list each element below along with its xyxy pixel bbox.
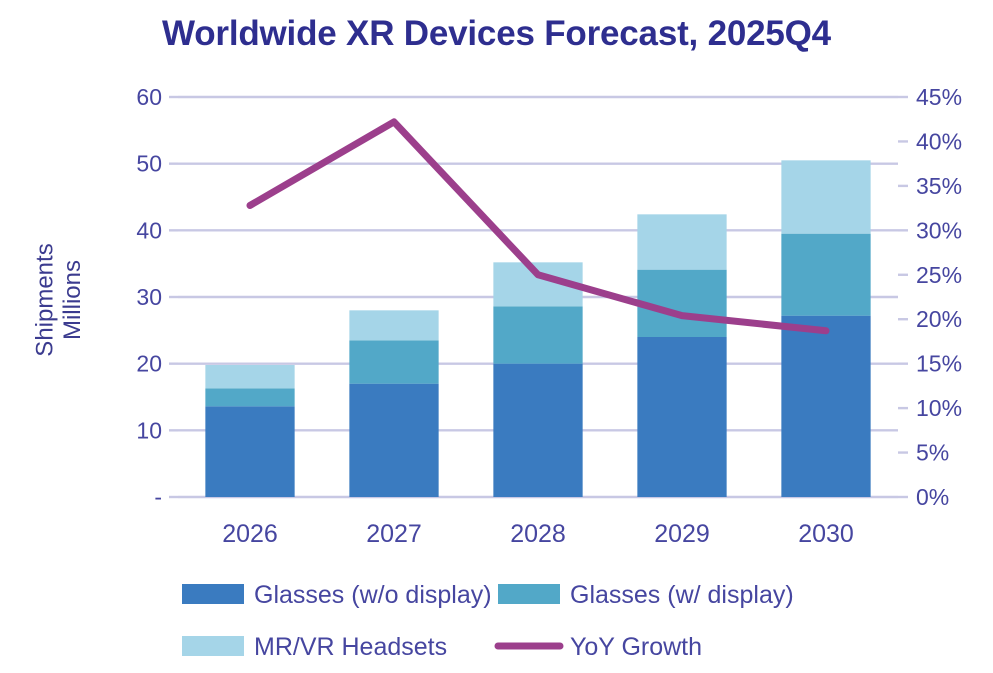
bar-segment xyxy=(349,340,438,383)
secondary-y-axis-tick-label: 20% xyxy=(916,306,962,332)
legend-item-label: Glasses (w/o display) xyxy=(254,581,492,609)
y-axis-tick-label: 40 xyxy=(136,217,162,243)
secondary-y-axis-tick-label: 25% xyxy=(916,262,962,288)
bar-segment xyxy=(205,406,294,497)
legend-item[interactable]: Glasses (w/ display) xyxy=(498,581,794,609)
bar-segment xyxy=(781,316,870,497)
x-axis-tick-label: 2029 xyxy=(654,520,710,548)
y-axis-tick-label: - xyxy=(154,484,162,510)
legend-item[interactable]: MR/VR Headsets xyxy=(182,633,447,661)
secondary-y-axis-tick-label: 35% xyxy=(916,173,962,199)
bar-segment xyxy=(781,234,870,316)
bar-segment xyxy=(493,306,582,363)
secondary-y-axis-tick-label: 0% xyxy=(916,484,949,510)
bar-segment xyxy=(349,384,438,497)
legend-item-label: YoY Growth xyxy=(570,633,702,661)
legend-item-label: MR/VR Headsets xyxy=(254,633,447,661)
legend-item-label: Glasses (w/ display) xyxy=(570,581,794,609)
secondary-y-axis-tick-label: 15% xyxy=(916,351,962,377)
y-axis-tick-label: 50 xyxy=(136,151,162,177)
bar-segment xyxy=(637,214,726,269)
legend-color-swatch xyxy=(182,636,244,656)
bar-segment xyxy=(493,364,582,497)
chart-plot-area: -102030405060 0%5%10%15%20%25%30%35%40%4… xyxy=(0,0,993,673)
secondary-y-axis-tick-label: 40% xyxy=(916,128,962,154)
chart-container: Worldwide XR Devices Forecast, 2025Q4 -1… xyxy=(0,0,993,673)
secondary-y-axis-tick-label: 45% xyxy=(916,84,962,110)
bar-segment xyxy=(781,160,870,233)
bar-segment xyxy=(205,365,294,388)
bars-group xyxy=(205,160,870,497)
legend-color-swatch xyxy=(498,584,560,604)
y-axis-title: ShipmentsMillions xyxy=(31,243,86,356)
legend-color-swatch xyxy=(182,584,244,604)
bar-segment xyxy=(349,310,438,340)
secondary-y-axis-ticks-group: 0%5%10%15%20%25%30%35%40%45% xyxy=(898,84,962,510)
legend-group: Glasses (w/o display)Glasses (w/ display… xyxy=(182,581,794,661)
legend-item[interactable]: YoY Growth xyxy=(498,633,702,661)
x-axis-ticks-group: 20262027202820292030 xyxy=(222,520,854,548)
y-axis-tick-label: 60 xyxy=(136,84,162,110)
y-axis-tick-label: 10 xyxy=(136,417,162,443)
secondary-y-axis-tick-label: 5% xyxy=(916,440,949,466)
secondary-y-axis-tick-label: 30% xyxy=(916,217,962,243)
legend-item[interactable]: Glasses (w/o display) xyxy=(182,581,492,609)
y-axis-ticks-group: -102030405060 xyxy=(136,84,178,510)
x-axis-tick-label: 2030 xyxy=(798,520,854,548)
x-axis-tick-label: 2026 xyxy=(222,520,278,548)
y-axis-tick-label: 20 xyxy=(136,351,162,377)
secondary-y-axis-tick-label: 10% xyxy=(916,395,962,421)
x-axis-tick-label: 2027 xyxy=(366,520,422,548)
bar-segment xyxy=(205,388,294,406)
bar-segment xyxy=(637,337,726,497)
x-axis-tick-label: 2028 xyxy=(510,520,566,548)
y-axis-title-group: ShipmentsMillions xyxy=(31,243,86,356)
y-axis-tick-label: 30 xyxy=(136,284,162,310)
